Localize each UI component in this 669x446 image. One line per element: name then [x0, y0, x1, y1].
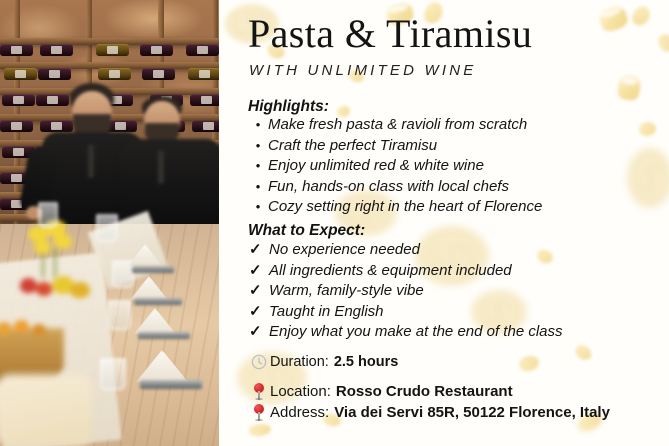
- list-item-label: Warm, family-style vibe: [269, 281, 424, 302]
- list-item-label: All ingredients & equipment included: [269, 261, 512, 282]
- water-glass: [108, 300, 131, 330]
- check-icon: ✓: [248, 261, 269, 282]
- list-item: ✓ Warm, family-style vibe: [248, 281, 563, 302]
- list-item-label: Make fresh pasta & ravioli from scratch: [268, 115, 527, 136]
- list-item-label: Craft the perfect Tiramisu: [268, 136, 437, 157]
- page-subtitle: WITH UNLIMITED WINE: [249, 62, 476, 79]
- list-item: ✓ Taught in English: [248, 302, 563, 323]
- what-to-expect-list: ✓ No experience needed ✓ All ingredients…: [248, 240, 563, 343]
- list-item-label: Fun, hands-on class with local chefs: [268, 177, 509, 198]
- list-item: • Craft the perfect Tiramisu: [248, 136, 542, 157]
- list-item: • Cozy setting right in the heart of Flo…: [248, 197, 542, 218]
- cutlery-set: [138, 332, 190, 339]
- chef-left: [18, 84, 128, 232]
- address-label: Address:: [270, 404, 329, 421]
- pasta-sheet: [0, 374, 92, 446]
- wine-glass: [96, 214, 118, 242]
- list-item: • Enjoy unlimited red & white wine: [248, 156, 542, 177]
- duration-row: Duration: 2.5 hours: [248, 354, 398, 370]
- check-icon: ✓: [248, 281, 269, 302]
- location-label: Location:: [270, 383, 331, 400]
- list-item: ✓ All ingredients & equipment included: [248, 261, 563, 282]
- cutlery-set: [134, 298, 182, 305]
- bullet-icon: •: [248, 197, 268, 218]
- page-title: Pasta & Tiramisu: [248, 12, 532, 56]
- list-item-label: Cozy setting right in the heart of Flore…: [268, 197, 542, 218]
- dining-table-scene: [0, 224, 219, 446]
- location-row: Location: Rosso Crudo Restaurant: [248, 383, 513, 400]
- list-item: • Fun, hands-on class with local chefs: [248, 177, 542, 198]
- vegetables: [18, 270, 106, 306]
- poster-content: Pasta & Tiramisu WITH UNLIMITED WINE Hig…: [240, 0, 669, 446]
- chefs-photo: [0, 0, 219, 446]
- duration-value: 2.5 hours: [329, 354, 398, 370]
- check-icon: ✓: [248, 240, 269, 261]
- address-row: Address: Via dei Servi 85R, 50122 Floren…: [248, 404, 610, 421]
- highlights-heading: Highlights:: [248, 98, 329, 116]
- what-to-expect-heading: What to Expect:: [248, 222, 365, 240]
- list-item: ✓ No experience needed: [248, 240, 563, 261]
- list-item: ✓ Enjoy what you make at the end of the …: [248, 322, 563, 343]
- list-item-label: No experience needed: [269, 240, 420, 261]
- check-icon: ✓: [248, 302, 269, 323]
- bullet-icon: •: [248, 115, 268, 136]
- highlights-list: • Make fresh pasta & ravioli from scratc…: [248, 115, 542, 218]
- water-glass: [100, 358, 126, 390]
- chef-right: [118, 96, 219, 232]
- list-item-label: Taught in English: [269, 302, 384, 323]
- poster-root: Pasta & Tiramisu WITH UNLIMITED WINE Hig…: [0, 0, 669, 446]
- clock-icon: [248, 354, 270, 370]
- bullet-icon: •: [248, 136, 268, 157]
- check-icon: ✓: [248, 322, 269, 343]
- location-value: Rosso Crudo Restaurant: [331, 383, 513, 400]
- list-item-label: Enjoy unlimited red & white wine: [268, 156, 484, 177]
- map-pin-icon: [248, 404, 270, 421]
- duration-label: Duration:: [270, 354, 329, 370]
- wine-glass: [38, 202, 58, 228]
- bullet-icon: •: [248, 156, 268, 177]
- cutlery-set: [140, 380, 202, 389]
- list-item: • Make fresh pasta & ravioli from scratc…: [248, 115, 542, 136]
- address-value: Via dei Servi 85R, 50122 Florence, Italy: [329, 404, 610, 421]
- list-item-label: Enjoy what you make at the end of the cl…: [269, 322, 563, 343]
- bullet-icon: •: [248, 177, 268, 198]
- cutlery-set: [132, 266, 174, 273]
- map-pin-icon: [248, 383, 270, 400]
